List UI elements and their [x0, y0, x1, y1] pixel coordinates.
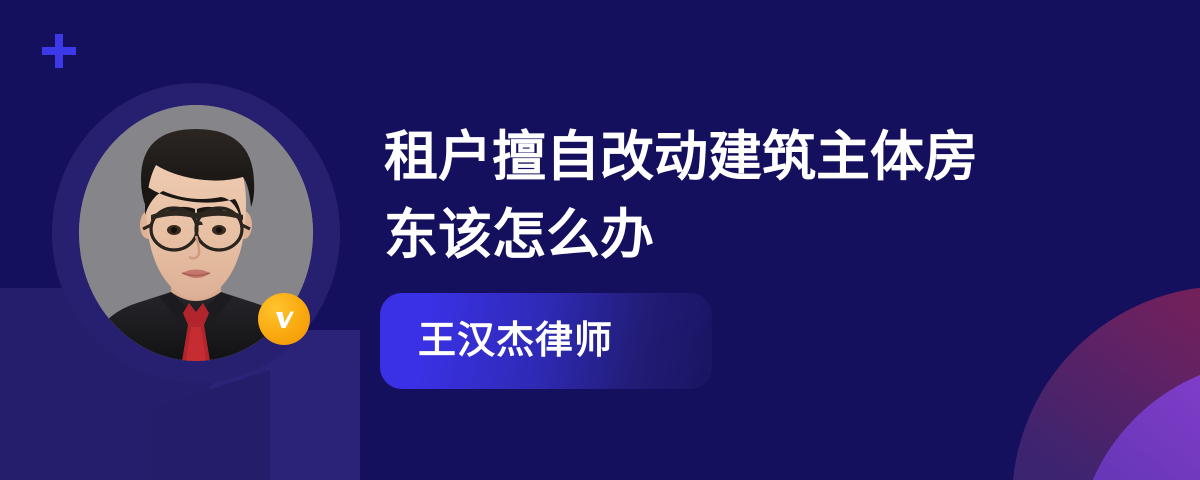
lawyer-name-label: 王汉杰律师: [418, 322, 613, 360]
lawyer-name-button[interactable]: 王汉杰律师: [380, 293, 712, 389]
page-title: 租户擅自改动建筑主体房东该怎么办: [384, 118, 1004, 274]
banner-card: 租户擅自改动建筑主体房东该怎么办 王汉杰律师: [0, 0, 1200, 480]
verified-badge: [258, 293, 310, 345]
content-block: 租户擅自改动建筑主体房东该怎么办: [384, 118, 1104, 274]
plus-icon-bar-vertical: [55, 34, 63, 68]
plus-icon: [42, 34, 76, 68]
